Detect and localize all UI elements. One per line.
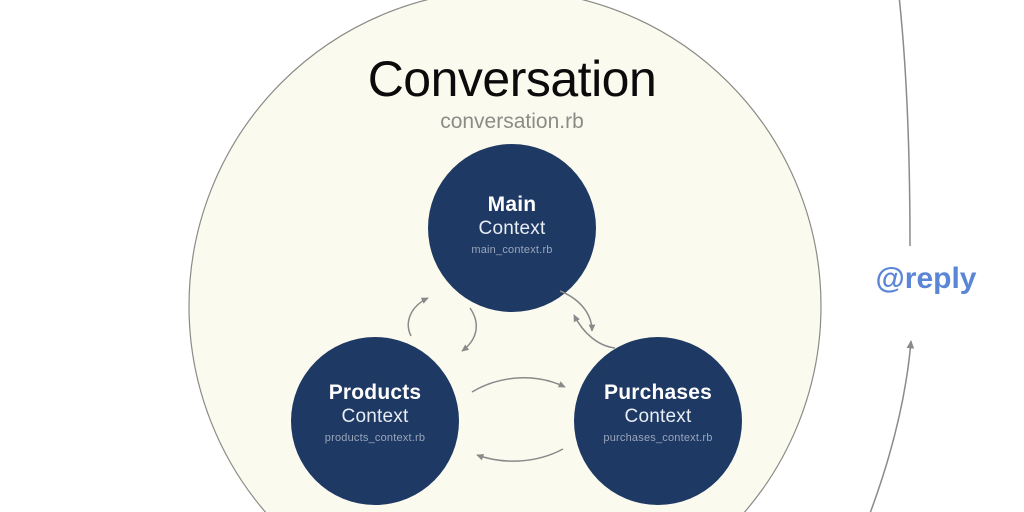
main-context-circle[interactable] [428, 144, 596, 312]
diagram-canvas: Conversation conversation.rb Main Contex… [0, 0, 1024, 512]
purchases-context-circle[interactable] [574, 337, 742, 505]
products-context-circle[interactable] [291, 337, 459, 505]
diagram-vector-layer [0, 0, 1024, 512]
outbound-reply-arrow [869, 341, 911, 512]
inbound-request-line [899, 0, 910, 246]
